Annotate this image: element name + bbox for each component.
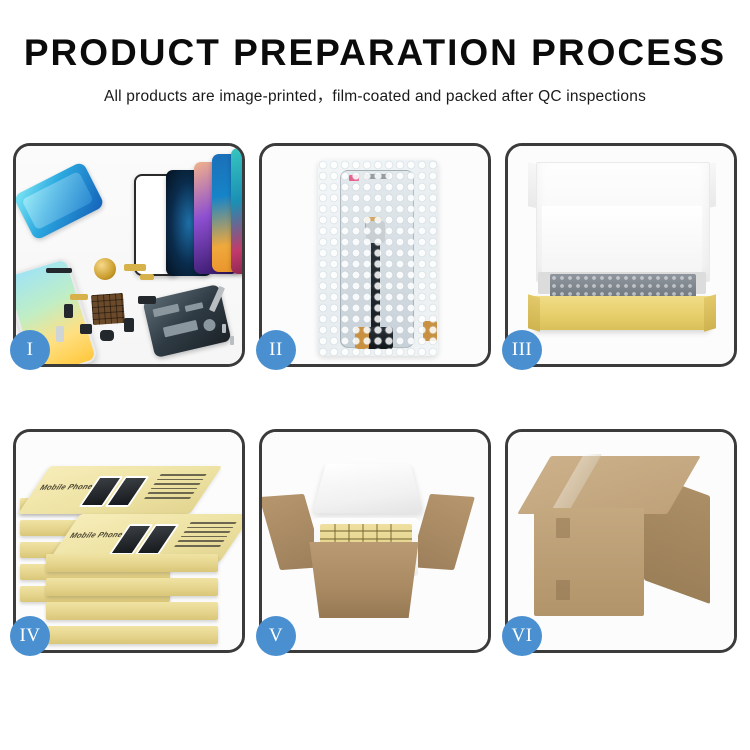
small-part-4-icon	[124, 318, 134, 332]
screw-2-icon	[230, 336, 234, 345]
bubble-wrap-bag-icon	[318, 160, 438, 356]
step-badge-5: V	[256, 616, 296, 656]
sim-tray-icon	[56, 326, 64, 342]
step-badge-3: III	[502, 330, 542, 370]
stacked-box-front-2	[46, 602, 218, 620]
flex-cable-3-icon	[70, 294, 88, 300]
step-6-image	[508, 432, 734, 650]
step-panel-5: V	[259, 429, 491, 653]
header: PRODUCT PREPARATION PROCESS All products…	[0, 0, 750, 106]
styrofoam-lid-icon	[312, 464, 423, 514]
phone-screen-teal-icon	[231, 148, 242, 274]
yellow-box-base-icon	[534, 296, 710, 330]
small-part-1-icon	[64, 304, 73, 318]
product-preparation-infographic: PRODUCT PREPARATION PROCESS All products…	[0, 0, 750, 750]
small-part-5-icon	[138, 296, 156, 304]
box-spec-lines-2	[171, 522, 237, 552]
carton-tab-top-icon	[556, 518, 570, 538]
blue-lcd-assembly-icon	[16, 161, 105, 241]
step-badge-2: II	[256, 330, 296, 370]
carton-front-face-icon	[534, 508, 644, 616]
step-badge-1: I	[10, 330, 50, 370]
bubble-texture-icon	[318, 160, 438, 356]
step-badge-4: IV	[10, 616, 50, 656]
step-panel-3: III	[505, 143, 737, 367]
carton-body-icon	[302, 542, 426, 618]
foam-sheet-icon	[542, 206, 702, 276]
step-2-image	[262, 146, 488, 364]
step-1-image	[16, 146, 242, 364]
stacked-box-lid-top: Mobile Phone Spare Parts	[18, 466, 222, 514]
stacked-box-front-1	[46, 626, 218, 644]
small-part-3-icon	[100, 330, 114, 341]
step-panel-2: II	[259, 143, 491, 367]
step-badge-6: VI	[502, 616, 542, 656]
page-subtitle: All products are image-printed，film-coat…	[0, 84, 750, 106]
flex-cable-1-icon	[124, 264, 146, 271]
step-5-image	[262, 432, 488, 650]
step-4-image: Mobile Phone Spare Parts Mobile Phone Sp…	[16, 432, 242, 650]
steps-grid: I II	[13, 143, 737, 677]
screw-1-icon	[222, 324, 226, 333]
flex-cable-2-icon	[140, 274, 154, 280]
copper-coil-icon	[94, 258, 116, 280]
step-panel-1: I	[13, 143, 245, 367]
box-stack-icon: Mobile Phone Spare Parts Mobile Phone Sp…	[16, 432, 242, 650]
step-panel-6: VI	[505, 429, 737, 653]
stacked-box-front-3	[46, 578, 218, 596]
stacked-box-front-4	[46, 554, 218, 572]
small-part-2-icon	[80, 324, 92, 334]
step-3-image	[508, 146, 734, 364]
carton-tab-bottom-icon	[556, 580, 570, 600]
speaker-module-icon	[46, 268, 72, 273]
page-title: PRODUCT PREPARATION PROCESS	[0, 34, 750, 73]
chip-grid-icon	[91, 293, 125, 325]
box-spec-lines-1	[141, 474, 207, 504]
step-panel-4: Mobile Phone Spare Parts Mobile Phone Sp…	[13, 429, 245, 653]
